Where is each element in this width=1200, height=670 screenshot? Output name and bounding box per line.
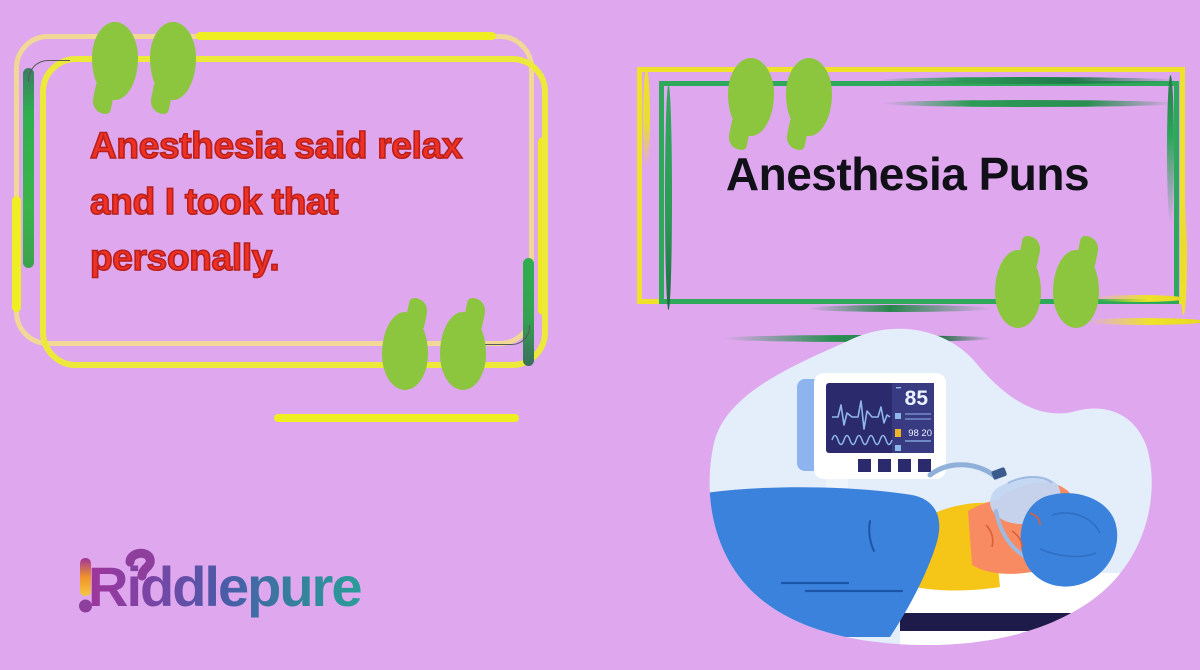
- quote-open-icon: [92, 22, 200, 100]
- quote-frame-inner-accent-left: [23, 68, 34, 268]
- page-title: Anesthesia Puns: [615, 147, 1200, 201]
- quote-close-icon: [378, 312, 486, 390]
- title-brush-top-1: [877, 77, 1177, 84]
- riddlepure-logo[interactable]: Riddlepure: [78, 548, 418, 620]
- poster-canvas: Anesthesia said relax and I took that pe…: [0, 0, 1200, 670]
- vital-signs-monitor: 85 98 20: [814, 373, 946, 479]
- monitor-secondary-reading: 98 20: [908, 428, 932, 439]
- anesthesia-patient-illustration: 85 98 20: [700, 325, 1160, 670]
- title-brush-right-yellow: [1180, 195, 1187, 315]
- title-brush-bottom-yellow: [1085, 318, 1200, 325]
- quote-frame-outer-accent-left: [12, 196, 21, 312]
- quote-text: Anesthesia said relax and I took that pe…: [90, 118, 490, 287]
- quote-card: Anesthesia said relax and I took that pe…: [0, 0, 600, 400]
- title-quote-close-icon: [991, 250, 1099, 328]
- quote-frame-outer-accent-top: [196, 32, 496, 40]
- title-quote-open-icon: [728, 58, 836, 136]
- title-brush-bottom-1: [807, 305, 992, 312]
- quote-frame-outer-accent-bottom: [274, 414, 519, 422]
- title-brush-top-2: [883, 100, 1175, 107]
- logo-text: Riddlepure: [88, 555, 361, 618]
- patient-blanket: [703, 487, 939, 637]
- title-block: Anesthesia Puns: [615, 55, 1200, 325]
- quote-frame-inner-accent-right: [523, 258, 534, 366]
- monitor-heart-rate: 85: [905, 387, 929, 410]
- title-brush-mid-yellow: [1093, 295, 1185, 302]
